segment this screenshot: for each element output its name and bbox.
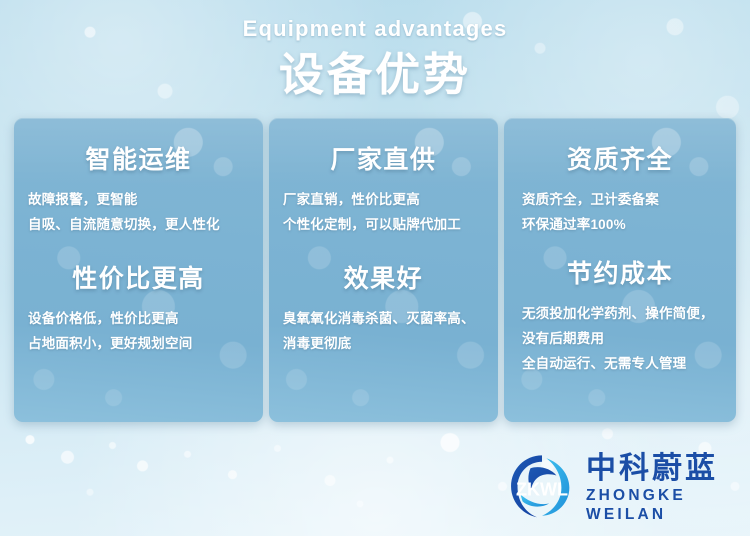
- promo-poster: Equipment advantages 设备优势 智能运维 故障报警，更智能 …: [0, 0, 750, 536]
- block-line: 消毒更彻底: [283, 331, 498, 356]
- block-title: 节约成本: [504, 259, 736, 289]
- card-block: 厂家直供 厂家直销，性价比更高 个性化定制，可以贴牌代加工: [269, 118, 498, 237]
- block-line: 占地面积小，更好规划空间: [28, 331, 263, 356]
- block-lines: 设备价格低，性价比更高 占地面积小，更好规划空间: [14, 294, 263, 356]
- poster-header: Equipment advantages 设备优势: [0, 16, 750, 101]
- block-line: 故障报警，更智能: [28, 187, 263, 212]
- block-line: 没有后期费用: [522, 326, 736, 351]
- block-line: 环保通过率100%: [522, 212, 736, 237]
- block-line: 无须投加化学药剂、操作简便，: [522, 301, 736, 326]
- company-logo: ZKWL 中科蔚蓝 ZHONGKE WEILAN: [506, 450, 738, 524]
- block-lines: 厂家直销，性价比更高 个性化定制，可以贴牌代加工: [269, 175, 498, 237]
- svg-text:ZKWL: ZKWL: [516, 480, 568, 500]
- card-block: 性价比更高 设备价格低，性价比更高 占地面积小，更好规划空间: [14, 237, 263, 356]
- page-title: 设备优势: [0, 49, 750, 101]
- block-title: 厂家直供: [269, 145, 498, 175]
- advantage-card-intelligent-ops: 智能运维 故障报警，更智能 自吸、自流随意切换，更人性化 性价比更高 设备价格低…: [14, 118, 263, 422]
- block-lines: 故障报警，更智能 自吸、自流随意切换，更人性化: [14, 175, 263, 237]
- card-block: 智能运维 故障报警，更智能 自吸、自流随意切换，更人性化: [14, 118, 263, 237]
- logo-text-group: 中科蔚蓝 ZHONGKE WEILAN: [586, 450, 738, 524]
- card-block: 节约成本 无须投加化学药剂、操作简便， 没有后期费用 全自动运行、无需专人管理: [504, 237, 736, 376]
- block-line: 个性化定制，可以贴牌代加工: [283, 212, 498, 237]
- logo-company-name-cn: 中科蔚蓝: [586, 452, 738, 486]
- block-line: 资质齐全，卫计委备案: [522, 187, 736, 212]
- dolphin-circle-logo-icon: ZKWL: [506, 451, 578, 523]
- block-title: 效果好: [269, 264, 498, 294]
- logo-company-name-en: ZHONGKE WEILAN: [586, 486, 738, 524]
- block-line: 自吸、自流随意切换，更人性化: [28, 212, 263, 237]
- block-line: 厂家直销，性价比更高: [283, 187, 498, 212]
- block-line: 设备价格低，性价比更高: [28, 306, 263, 331]
- header-english-title: Equipment advantages: [0, 16, 750, 42]
- block-line: 全自动运行、无需专人管理: [522, 351, 736, 376]
- block-lines: 臭氧氧化消毒杀菌、灭菌率高、 消毒更彻底: [269, 294, 498, 356]
- block-lines: 无须投加化学药剂、操作简便， 没有后期费用 全自动运行、无需专人管理: [504, 289, 736, 376]
- block-lines: 资质齐全，卫计委备案 环保通过率100%: [504, 175, 736, 237]
- block-line: 臭氧氧化消毒杀菌、灭菌率高、: [283, 306, 498, 331]
- block-title: 智能运维: [14, 145, 263, 175]
- advantage-card-factory-direct: 厂家直供 厂家直销，性价比更高 个性化定制，可以贴牌代加工 效果好 臭氧氧化消毒…: [269, 118, 498, 422]
- card-block: 资质齐全 资质齐全，卫计委备案 环保通过率100%: [504, 118, 736, 237]
- block-title: 性价比更高: [14, 264, 263, 294]
- block-title: 资质齐全: [504, 145, 736, 175]
- advantage-card-list: 智能运维 故障报警，更智能 自吸、自流随意切换，更人性化 性价比更高 设备价格低…: [14, 118, 736, 422]
- card-block: 效果好 臭氧氧化消毒杀菌、灭菌率高、 消毒更彻底: [269, 237, 498, 356]
- advantage-card-qualifications: 资质齐全 资质齐全，卫计委备案 环保通过率100% 节约成本 无须投加化学药剂、…: [504, 118, 736, 422]
